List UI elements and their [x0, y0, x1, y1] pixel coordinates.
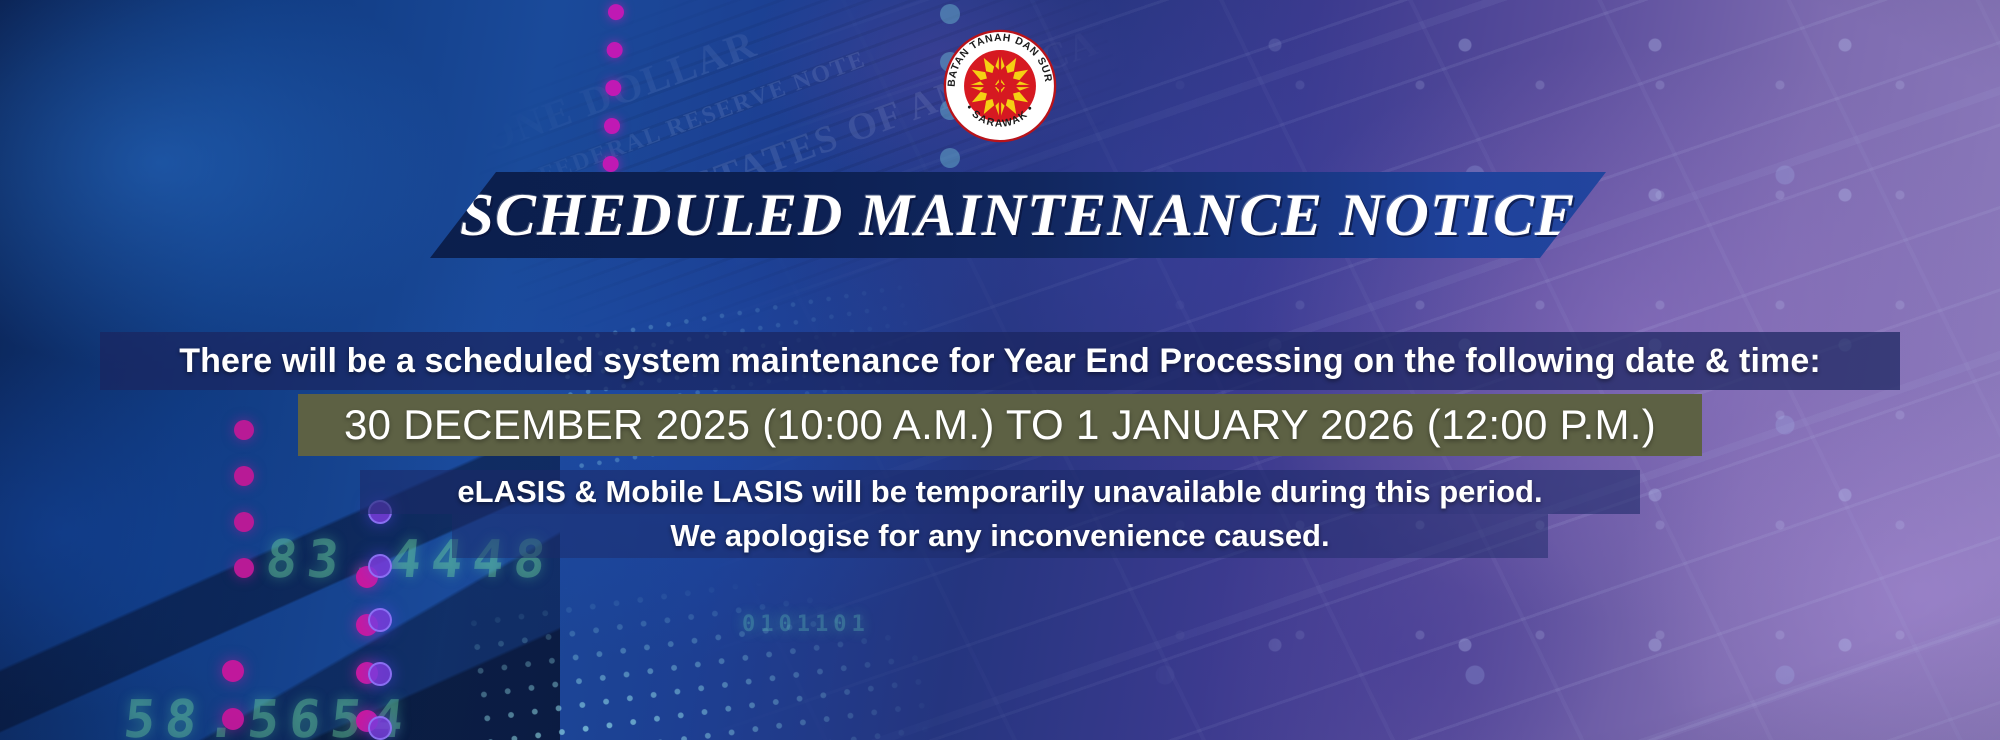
- unavailability-text: eLASIS & Mobile LASIS will be temporaril…: [457, 474, 1542, 510]
- page-title: SCHEDULED MAINTENANCE NOTICE: [460, 181, 1577, 250]
- agency-logo-icon: JABATAN TANAH DAN SURVEI • SARAWAK •: [942, 28, 1058, 144]
- apology-text: We apologise for any inconvenience cause…: [670, 518, 1329, 554]
- apology-text-band: We apologise for any inconvenience cause…: [452, 514, 1548, 558]
- intro-text-band: There will be a scheduled system mainten…: [100, 332, 1900, 390]
- unavailability-text-band: eLASIS & Mobile LASIS will be temporaril…: [360, 470, 1640, 514]
- title-banner: SCHEDULED MAINTENANCE NOTICE: [430, 172, 1606, 258]
- maintenance-window-text: 30 DECEMBER 2025 (10:00 A.M.) TO 1 JANUA…: [344, 401, 1656, 449]
- agency-logo: JABATAN TANAH DAN SURVEI • SARAWAK •: [942, 28, 1058, 144]
- intro-text: There will be a scheduled system mainten…: [179, 342, 1821, 381]
- maintenance-notice-banner: ONE DOLLAR FEDERAL RESERVE NOTE UNITED S…: [0, 0, 2000, 740]
- maintenance-window-band: 30 DECEMBER 2025 (10:00 A.M.) TO 1 JANUA…: [298, 394, 1702, 456]
